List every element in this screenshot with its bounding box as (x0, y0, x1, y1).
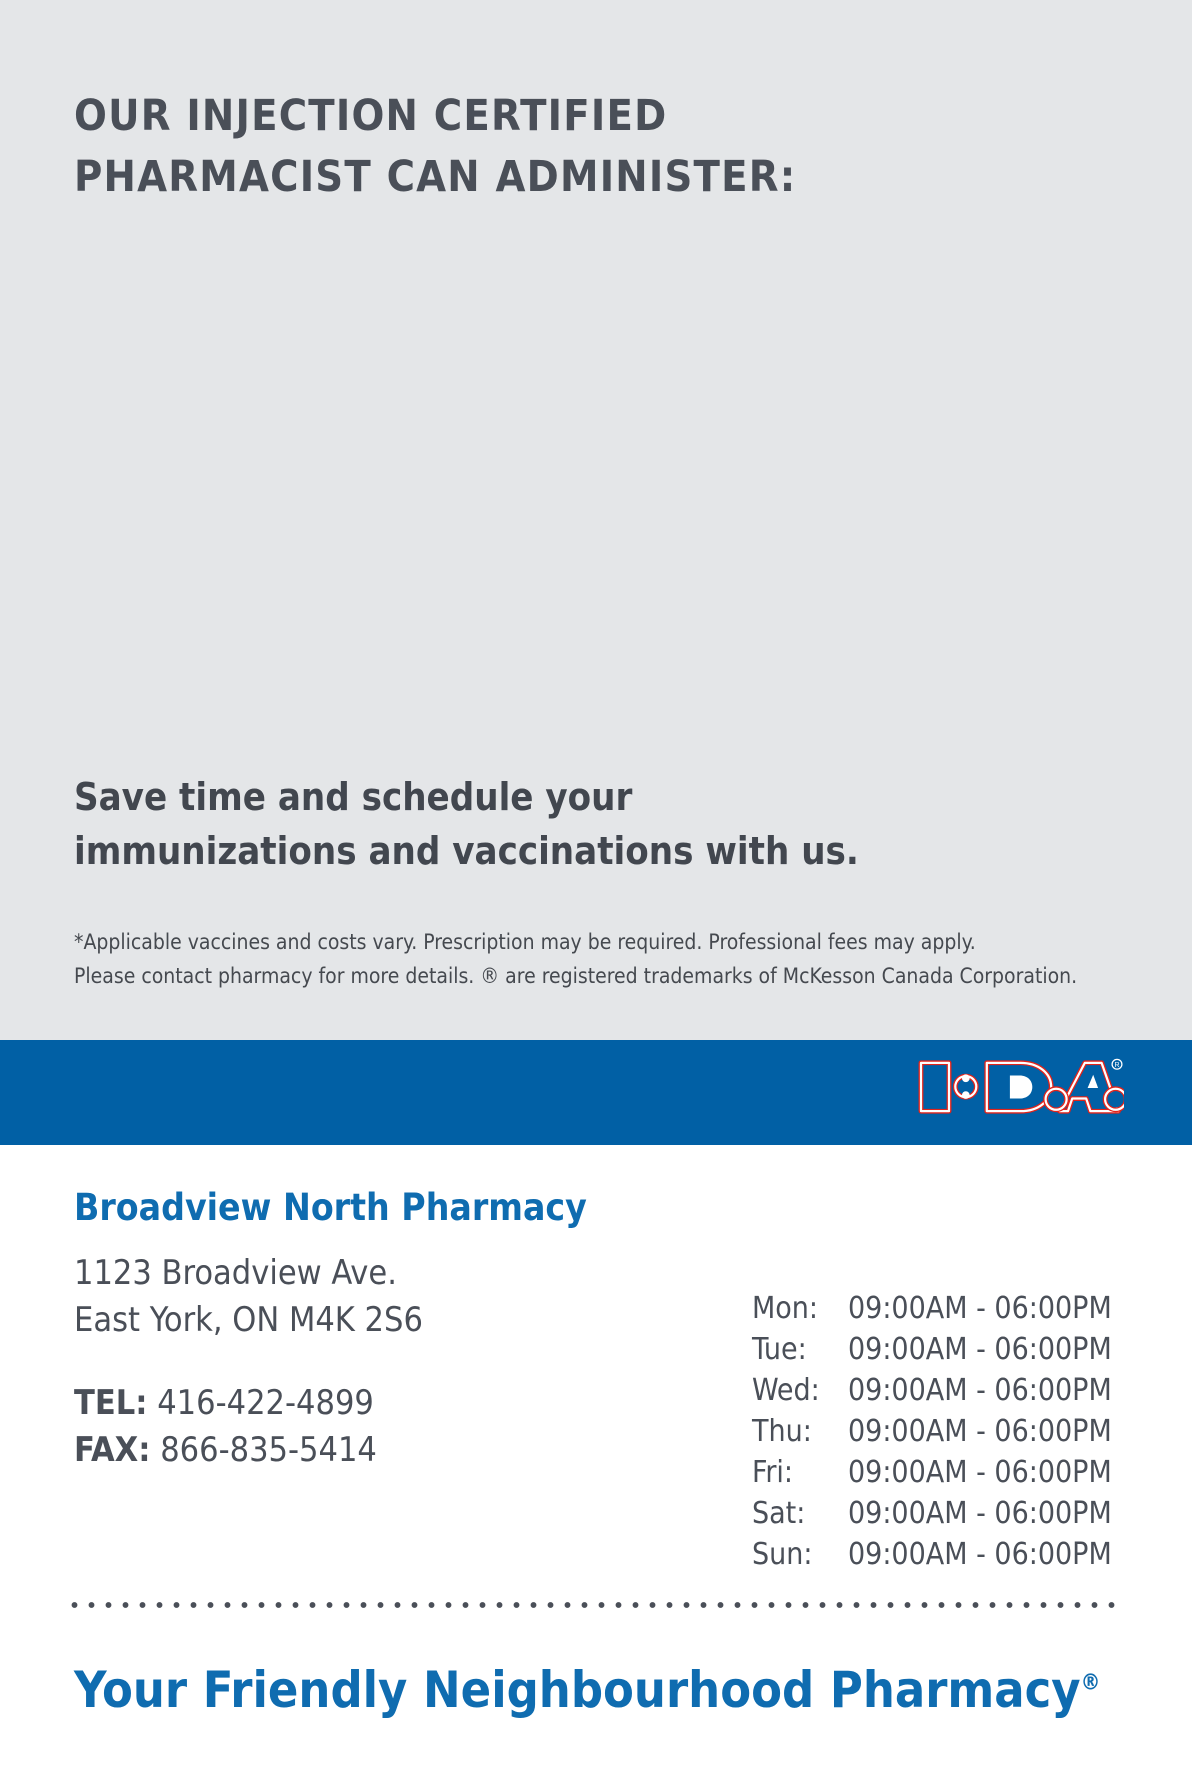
registered-trademark-icon: ® (1081, 1670, 1101, 1695)
address-line-1: 1123 Broadview Ave. (74, 1250, 423, 1297)
hours-day-label: Tue: (752, 1329, 848, 1370)
hours-day-label: Mon: (752, 1288, 848, 1329)
subheading: Save time and schedule your immunization… (74, 770, 974, 878)
hours-row: Sun:09:00AM - 06:00PM (752, 1534, 1112, 1575)
top-panel: OUR INJECTION CERTIFIED PHARMACIST CAN A… (0, 0, 1192, 1040)
subheading-line-2: immunizations and vaccinations with us. (74, 824, 974, 878)
hours-row: Fri:09:00AM - 06:00PM (752, 1452, 1112, 1493)
hours-row: Tue:09:00AM - 06:00PM (752, 1329, 1112, 1370)
pharmacy-flyer: OUR INJECTION CERTIFIED PHARMACIST CAN A… (0, 0, 1192, 1785)
address-line-2: East York, ON M4K 2S6 (74, 1297, 423, 1344)
disclaimer-line-2: Please contact pharmacy for more details… (74, 959, 1134, 993)
hours-day-label: Fri: (752, 1452, 848, 1493)
fax-label: FAX: (74, 1430, 151, 1470)
disclaimer-line-1: *Applicable vaccines and costs vary. Pre… (74, 925, 1134, 959)
hours-day-label: Sat: (752, 1493, 848, 1534)
svg-text:R: R (1114, 1062, 1119, 1069)
telephone-value[interactable]: 416-422-4899 (157, 1383, 374, 1423)
hours-time-value: 09:00AM - 06:00PM (848, 1329, 1112, 1370)
subheading-line-1: Save time and schedule your (74, 770, 974, 824)
hours-row: Wed:09:00AM - 06:00PM (752, 1370, 1112, 1411)
dotted-divider (66, 1600, 1124, 1610)
hours-time-value: 09:00AM - 06:00PM (848, 1370, 1112, 1411)
hours-day-label: Wed: (752, 1370, 848, 1411)
fax-value: 866-835-5414 (160, 1430, 377, 1470)
hours-row: Mon:09:00AM - 06:00PM (752, 1288, 1112, 1329)
hours-time-value: 09:00AM - 06:00PM (848, 1452, 1112, 1493)
hours-time-value: 09:00AM - 06:00PM (848, 1493, 1112, 1534)
telephone-row: TEL: 416-422-4899 (74, 1380, 377, 1427)
ida-logo: R (914, 1053, 1124, 1121)
store-hours: Mon:09:00AM - 06:00PM Tue:09:00AM - 06:0… (752, 1288, 1112, 1575)
store-contact: TEL: 416-422-4899 FAX: 866-835-5414 (74, 1380, 377, 1474)
telephone-label: TEL: (74, 1383, 148, 1423)
headline-line-1: OUR INJECTION CERTIFIED (74, 86, 974, 147)
headline-line-2: PHARMACIST CAN ADMINISTER: (74, 147, 974, 208)
hours-row: Thu:09:00AM - 06:00PM (752, 1411, 1112, 1452)
page-title: OUR INJECTION CERTIFIED PHARMACIST CAN A… (74, 86, 974, 208)
hours-row: Sat:09:00AM - 06:00PM (752, 1493, 1112, 1534)
fax-row: FAX: 866-835-5414 (74, 1427, 377, 1474)
tagline: Your Friendly Neighbourhood Pharmacy® (74, 1655, 1100, 1725)
hours-time-value: 09:00AM - 06:00PM (848, 1411, 1112, 1452)
hours-day-label: Sun: (752, 1534, 848, 1575)
store-address: 1123 Broadview Ave. East York, ON M4K 2S… (74, 1250, 423, 1344)
store-name: Broadview North Pharmacy (74, 1185, 587, 1231)
hours-day-label: Thu: (752, 1411, 848, 1452)
hours-time-value: 09:00AM - 06:00PM (848, 1288, 1112, 1329)
tagline-text: Your Friendly Neighbourhood Pharmacy (74, 1661, 1081, 1719)
hours-time-value: 09:00AM - 06:00PM (848, 1534, 1112, 1575)
disclaimer-text: *Applicable vaccines and costs vary. Pre… (74, 925, 1134, 993)
